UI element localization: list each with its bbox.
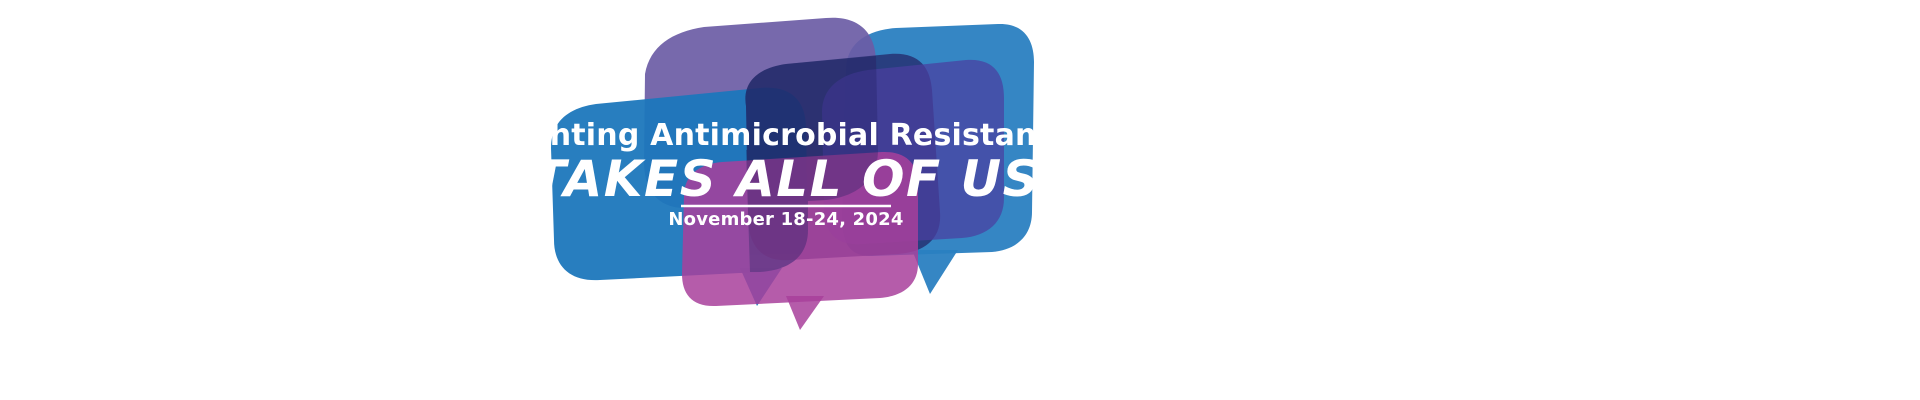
logo-headline-line2: TAKES ALL OF US — [532, 150, 1040, 208]
logo-date-text: November 18-24, 2024 — [668, 209, 903, 230]
amr-awareness-week-logo: Fighting Antimicrobial Resistance TAKES … — [0, 0, 1920, 400]
screenshot-canvas: Fighting Antimicrobial Resistance TAKES … — [0, 0, 1920, 400]
logo-artwork: Fighting Antimicrobial Resistance TAKES … — [0, 0, 1920, 400]
logo-headline-line1: Fighting Antimicrobial Resistance — [497, 118, 1075, 153]
